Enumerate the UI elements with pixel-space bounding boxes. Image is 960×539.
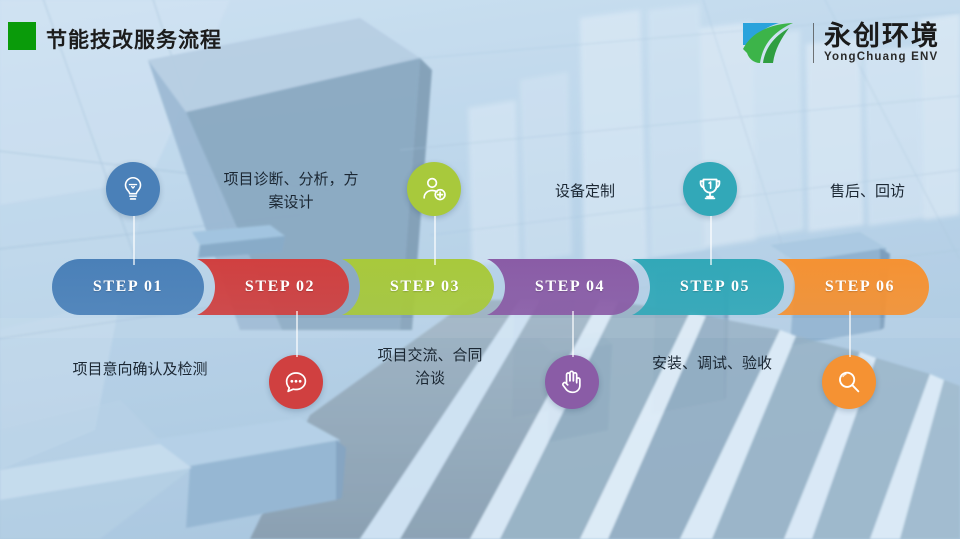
- step-connector-line: [572, 311, 574, 357]
- step-pill-1[interactable]: STEP 01: [52, 259, 204, 315]
- step-caption-5: 安装、调试、验收: [612, 352, 812, 375]
- step-pill-2[interactable]: STEP 02: [197, 259, 349, 315]
- step-connector-line: [133, 216, 135, 265]
- step-pill-label: STEP 05: [632, 259, 784, 315]
- trophy-icon[interactable]: [683, 162, 737, 216]
- add-user-icon[interactable]: [407, 162, 461, 216]
- lightbulb-icon[interactable]: [106, 162, 160, 216]
- step-pill-label: STEP 02: [197, 259, 349, 315]
- step-caption-2: 项目诊断、分析，方 案设计: [196, 168, 386, 215]
- hand-icon[interactable]: [545, 355, 599, 409]
- chat-bubble-icon[interactable]: [269, 355, 323, 409]
- process-flow-diagram: STEP 01 项目意向确认及检测 STEP 02 项目诊断、分析，方 案设计: [0, 0, 960, 539]
- magnifier-icon[interactable]: [822, 355, 876, 409]
- step-caption-1: 项目意向确认及检测: [40, 358, 240, 381]
- step-caption-3: 项目交流、合同 洽谈: [340, 344, 520, 391]
- step-pill-3[interactable]: STEP 03: [342, 259, 494, 315]
- step-caption-6: 售后、回访: [780, 180, 955, 203]
- step-pill-label: STEP 04: [487, 259, 639, 315]
- step-connector-line: [434, 216, 436, 265]
- step-pill-4[interactable]: STEP 04: [487, 259, 639, 315]
- step-connector-line: [849, 311, 851, 357]
- step-pill-label: STEP 01: [52, 259, 204, 315]
- step-pill-label: STEP 06: [777, 259, 929, 315]
- step-connector-line: [710, 216, 712, 265]
- step-pill-label: STEP 03: [342, 259, 494, 315]
- step-connector-line: [296, 311, 298, 357]
- step-pill-5[interactable]: STEP 05: [632, 259, 784, 315]
- step-pill-6[interactable]: STEP 06: [777, 259, 929, 315]
- step-caption-4: 设备定制: [500, 180, 670, 203]
